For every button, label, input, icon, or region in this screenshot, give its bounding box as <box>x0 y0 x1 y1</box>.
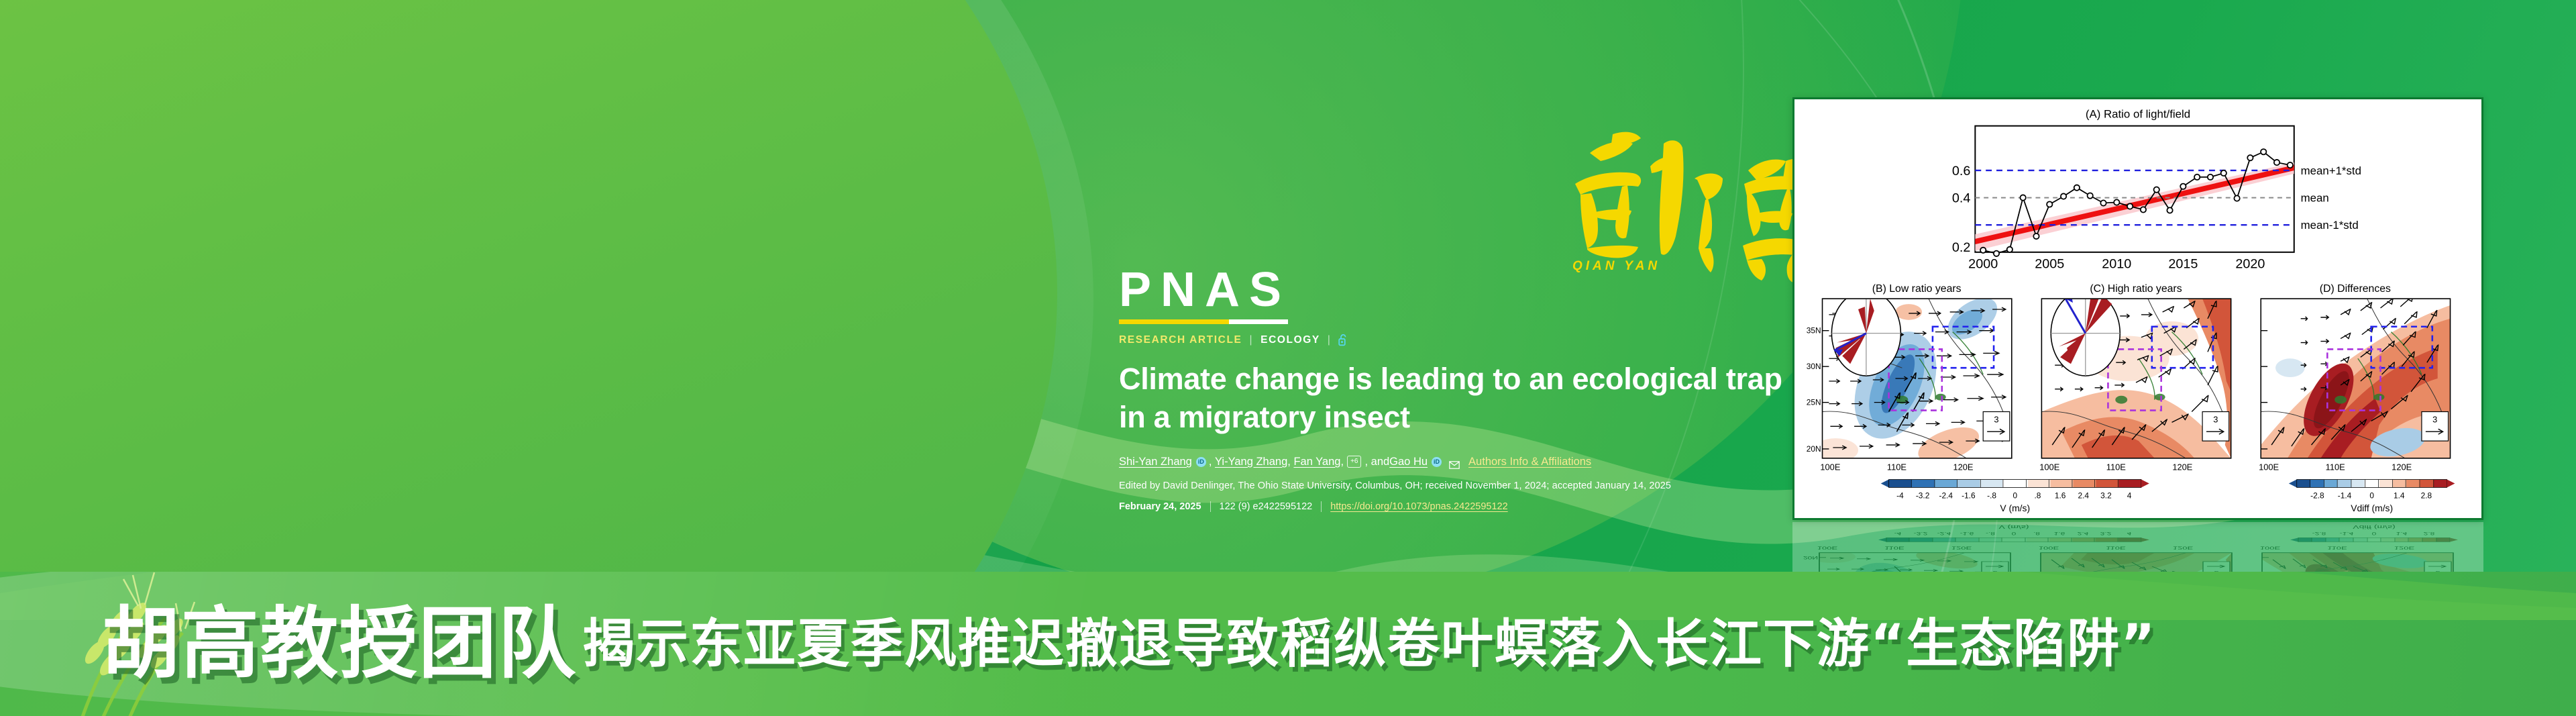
publication-meta: February 24, 2025 122 (9) e2422595122 ht… <box>1119 501 1790 512</box>
figure-svg: (A) Ratio of light/field <box>1794 99 2481 518</box>
panel-a-xtick-2020: 2020 <box>2235 257 2265 272</box>
svg-text:3: 3 <box>2213 414 2218 424</box>
svg-text:-3.2: -3.2 <box>1916 491 1929 500</box>
panel-d-title: (D) Differences <box>2320 283 2391 295</box>
author-comma-2: , <box>1287 454 1293 470</box>
headline-rest: 揭示东亚夏季风推迟撤退导致稻纵卷叶螟落入长江下游“生态陷阱” <box>582 618 2157 670</box>
edited-by-line: Edited by David Denlinger, The Ohio Stat… <box>1119 480 1790 491</box>
open-lock-icon <box>1338 334 1348 346</box>
panel-a-xtick-2000: 2000 <box>1968 257 1998 272</box>
panel-b-xtick-100E: 100E <box>1820 462 1840 472</box>
kicker-separator-2: | <box>1328 334 1332 346</box>
banner-root: PNAS RESEARCH ARTICLE | ECOLOGY | Climat… <box>0 0 2576 716</box>
panel-b-ytick-30N: 30N <box>1807 362 1821 371</box>
svg-text:-2.8: -2.8 <box>2310 491 2324 500</box>
article-subject-label: ECOLOGY <box>1260 334 1320 346</box>
svg-text:-1.4: -1.4 <box>2338 491 2352 500</box>
article-type-label: RESEARCH ARTICLE <box>1119 334 1242 346</box>
svg-text:0: 0 <box>2012 491 2017 500</box>
svg-text:2.4: 2.4 <box>2078 491 2090 500</box>
volume-issue-citation: 122 (9) e2422595122 <box>1220 501 1313 512</box>
author-link-3[interactable]: Fan Yang <box>1293 454 1340 470</box>
svg-text:1.4: 1.4 <box>2394 491 2405 500</box>
colorbar-vdiff-label: Vdiff (m/s) <box>2351 503 2393 513</box>
author-list: Shi-Yan Zhang iD , Yi-Yang Zhang , Fan Y… <box>1119 454 1790 470</box>
colorbar-v-label: V (m/s) <box>2000 503 2030 513</box>
panel-a-title: (A) Ratio of light/field <box>2086 108 2190 121</box>
kicker-separator-1: | <box>1249 334 1253 346</box>
panel-b-xtick-110E: 110E <box>1887 462 1907 472</box>
author-comma-3: , <box>1340 454 1344 470</box>
svg-text:3.2: 3.2 <box>2100 491 2112 500</box>
svg-text:-1.6: -1.6 <box>1962 491 1976 500</box>
authors-info-affiliations-link[interactable]: Authors Info & Affiliations <box>1468 454 1591 470</box>
svg-text:-.8: -.8 <box>1987 491 1996 500</box>
panel-c-xtick-120E: 120E <box>2172 462 2192 472</box>
pnas-article-block: PNAS RESEARCH ARTICLE | ECOLOGY | Climat… <box>1119 267 1790 512</box>
panel-a-ytick-0.6: 0.6 <box>1952 164 1971 178</box>
panel-a-xtick-2015: 2015 <box>2168 257 2198 272</box>
panel-c-xtick-110E: 110E <box>2106 462 2127 472</box>
panel-a-label-mean: mean <box>2301 192 2329 205</box>
pnas-rule <box>1119 319 1288 324</box>
orcid-icon-1[interactable]: iD <box>1196 457 1206 467</box>
panel-b-ytick-35N: 35N <box>1807 326 1821 336</box>
panel-a-label-mean-minus-std: mean-1*std <box>2301 219 2359 232</box>
panel-c-xtick-100E: 100E <box>2039 462 2059 472</box>
svg-text:-2.4: -2.4 <box>1939 491 1953 500</box>
panel-a-ytick-0.2: 0.2 <box>1952 240 1971 255</box>
svg-text:4: 4 <box>2127 491 2132 500</box>
svg-text:0: 0 <box>2369 491 2374 500</box>
panel-b-ytick-25N: 25N <box>1807 398 1821 407</box>
meta-divider-2 <box>1321 501 1322 512</box>
panel-d-xtick-100E: 100E <box>2259 462 2279 472</box>
meta-divider-1 <box>1210 501 1211 512</box>
author-link-2[interactable]: Yi-Yang Zhang <box>1215 454 1287 470</box>
panel-b-xtick-120E: 120E <box>1953 462 1973 472</box>
svg-text:2.8: 2.8 <box>2421 491 2432 500</box>
panel-b-title: (B) Low ratio years <box>1872 283 1962 295</box>
svg-text:-4: -4 <box>1896 491 1904 500</box>
panel-d-xtick-120E: 120E <box>2392 462 2412 472</box>
panel-b-ytick-20N: 20N <box>1807 444 1821 454</box>
and-label: , and <box>1364 454 1389 470</box>
pnas-rule-yellow <box>1119 319 1229 324</box>
svg-text:1.6: 1.6 <box>2055 491 2066 500</box>
orcid-icon-2[interactable]: iD <box>1432 457 1442 467</box>
pnas-figure-panel: (A) Ratio of light/field <box>1792 97 2483 520</box>
svg-text:3: 3 <box>2432 414 2437 424</box>
article-title[interactable]: Climate change is leading to an ecologic… <box>1119 360 1790 436</box>
author-link-last[interactable]: Gao Hu <box>1389 454 1428 470</box>
envelope-icon[interactable] <box>1449 458 1459 466</box>
more-authors-badge[interactable]: +6 <box>1347 456 1361 468</box>
svg-text:3: 3 <box>1994 414 1998 424</box>
panel-a-xtick-2005: 2005 <box>2035 257 2064 272</box>
headline-lead: 胡高教授团队 <box>102 605 577 683</box>
publication-date: February 24, 2025 <box>1119 501 1201 512</box>
pnas-rule-white <box>1229 319 1288 324</box>
svg-text:.8: .8 <box>2034 491 2041 500</box>
author-link-1[interactable]: Shi-Yan Zhang <box>1119 454 1192 470</box>
doi-link[interactable]: https://doi.org/10.1073/pnas.2422595122 <box>1330 501 1507 512</box>
author-comma-1: , <box>1209 454 1215 470</box>
panel-c-title: (C) High ratio years <box>2090 283 2182 295</box>
qianyan-romanization: QIAN YAN <box>1572 259 1660 274</box>
article-kicker: RESEARCH ARTICLE | ECOLOGY | <box>1119 334 1790 346</box>
panel-a-label-mean-plus-std: mean+1*std <box>2301 164 2361 177</box>
panel-a-ytick-0.4: 0.4 <box>1952 191 1971 206</box>
panel-a-xtick-2010: 2010 <box>2102 257 2131 272</box>
panel-d-xtick-110E: 110E <box>2326 462 2346 472</box>
headline-banner: 胡高教授团队 揭示东亚夏季风推迟撤退导致稻纵卷叶螟落入长江下游“生态陷阱” <box>0 572 2576 716</box>
